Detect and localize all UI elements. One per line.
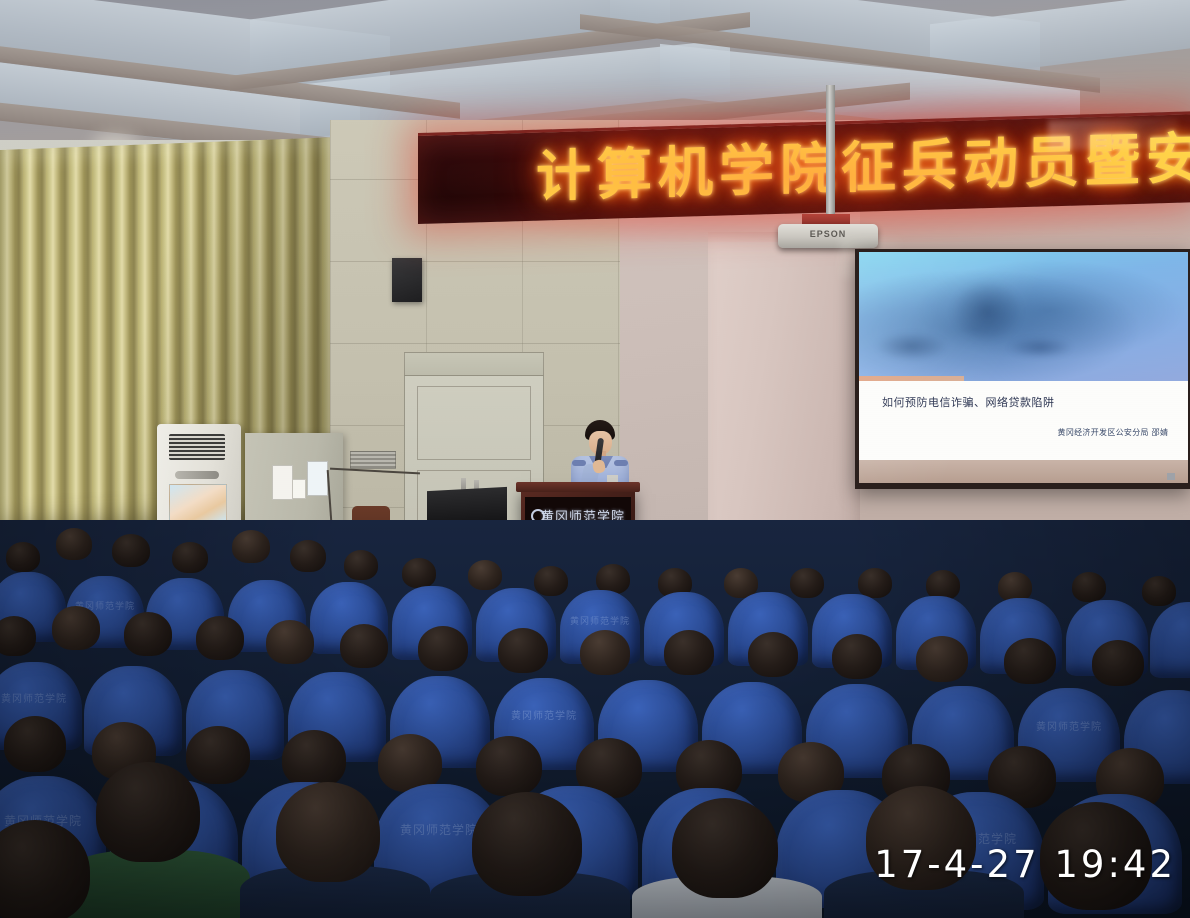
audience-head — [266, 620, 314, 664]
audience-head — [96, 762, 200, 862]
audience-head — [468, 560, 502, 590]
notice-paper — [272, 465, 293, 500]
audience-head — [472, 792, 582, 896]
audience-head — [124, 612, 172, 656]
slide-footer-mark — [1167, 473, 1175, 480]
projection-screen-frame: 如何预防电信诈骗、网络贷款陷阱 黄冈经济开发区公安分局 邵婧 — [855, 249, 1190, 489]
notice-paper — [292, 479, 306, 499]
audience-head — [340, 624, 388, 668]
audience-head — [916, 636, 968, 682]
audience-head — [1072, 572, 1106, 602]
slide-hero-image — [859, 252, 1188, 381]
audience-head — [418, 626, 468, 671]
audience-head — [344, 550, 378, 580]
audience-head — [790, 568, 824, 598]
audience-head — [56, 528, 92, 560]
ac-grille — [169, 434, 225, 460]
auditorium-photo: 计算机学院征兵动员暨安全 EPSON 如何预防电信诈骗、网络贷款陷阱 黄冈经济开… — [0, 0, 1190, 918]
audience-head — [476, 736, 542, 796]
ac-badge — [175, 471, 219, 479]
slide-title: 如何预防电信诈骗、网络贷款陷阱 — [882, 394, 1055, 410]
audience-head — [498, 628, 548, 673]
seat-print: 黄冈师范学院 — [400, 821, 478, 838]
audience-head — [232, 530, 270, 563]
camera-timestamp: 17-4-27 19:42 — [874, 843, 1176, 886]
slide-footer-band — [859, 460, 1188, 483]
seat-print: 黄冈师范学院 — [1036, 718, 1102, 733]
audience-head — [0, 616, 36, 656]
seat[interactable] — [1150, 602, 1190, 678]
audience-head — [402, 558, 436, 588]
speaker-epaulette — [572, 460, 586, 466]
notice-paper — [307, 461, 328, 496]
podium-top — [516, 482, 640, 492]
podium-nameplate: 黄冈师范学院 — [525, 497, 631, 521]
led-banner-reflection — [1048, 117, 1178, 151]
speaker-epaulette — [614, 460, 628, 466]
audience-head — [858, 568, 892, 598]
projection-screen: 如何预防电信诈骗、网络贷款陷阱 黄冈经济开发区公安分局 邵婧 — [859, 252, 1188, 483]
slide-image-shape — [875, 332, 947, 360]
audience-head — [1092, 640, 1144, 686]
audience-head — [832, 634, 882, 679]
seat-print: 黄冈师范学院 — [570, 614, 630, 627]
slide-subtitle: 黄冈经济开发区公安分局 邵婧 — [1058, 427, 1169, 438]
audience-head — [1004, 638, 1056, 684]
audience-head — [290, 540, 326, 572]
slide-image-shape — [951, 280, 1023, 342]
audience-head — [534, 566, 568, 596]
projector-pole — [826, 85, 835, 225]
audience-head — [664, 630, 714, 675]
audience-head — [112, 534, 150, 567]
audience-head — [276, 782, 380, 882]
audience-head — [748, 632, 798, 677]
wall-air-vent — [350, 451, 396, 469]
ac-poster — [169, 484, 227, 522]
audience-head — [580, 630, 630, 675]
audience-head — [282, 730, 346, 788]
seat-print: 黄冈师范学院 — [511, 707, 577, 722]
audience-head — [172, 542, 208, 573]
audience-head — [196, 616, 244, 660]
audience-head — [186, 726, 250, 784]
seat-print: 黄冈师范学院 — [1, 690, 67, 705]
slide-image-shape — [1007, 337, 1073, 358]
audience-head — [6, 542, 40, 572]
slide-body: 如何预防电信诈骗、网络贷款陷阱 黄冈经济开发区公安分局 邵婧 — [859, 381, 1188, 460]
audience-head — [52, 606, 100, 650]
audience-head — [672, 798, 778, 898]
audience-head — [4, 716, 66, 772]
wall-speaker-icon — [392, 258, 422, 302]
audience-head — [1142, 576, 1176, 606]
